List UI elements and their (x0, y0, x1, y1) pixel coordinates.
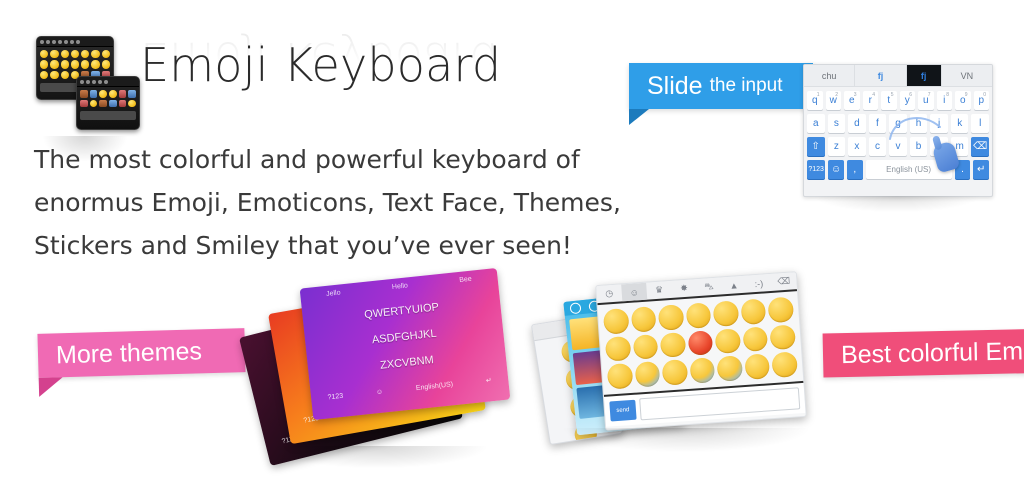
key-j[interactable]: j (930, 114, 948, 133)
key-y[interactable]: 6y (900, 91, 916, 110)
emoji-cell[interactable] (770, 324, 796, 350)
emoji-cell[interactable] (742, 326, 768, 352)
key-o[interactable]: 9o (955, 91, 971, 110)
screenshot-shadow (815, 196, 979, 212)
emoji-cell[interactable] (740, 298, 766, 324)
emoji-cell[interactable] (630, 306, 656, 332)
promo-banner: Emoji Keyboard Emoji Keyboard The most c… (0, 0, 1024, 500)
key-i[interactable]: 8i (937, 91, 953, 110)
theme-suggestion: Hello (392, 282, 409, 291)
emoji-cell[interactable] (717, 355, 743, 381)
key-t[interactable]: 5t (881, 91, 897, 110)
keyboard-row-4: ?123 ☺ , English (US) . ↵ (807, 160, 989, 179)
key-x[interactable]: x (848, 137, 866, 156)
ribbon-fold-icon (39, 377, 64, 397)
key-enter[interactable]: ↵ (973, 160, 989, 179)
key-v[interactable]: v (889, 137, 907, 156)
suggestion-bar: chu fj fj VN (804, 65, 992, 87)
key-f[interactable]: f (869, 114, 887, 133)
emoji-cell[interactable] (658, 304, 684, 330)
toolbar-dot-icon (64, 40, 68, 44)
clock-icon (569, 302, 581, 314)
description-line-2: enormus Emoji, Emoticons, Text Face, The… (34, 181, 634, 224)
emoji-cell[interactable] (772, 352, 798, 378)
category-car-icon[interactable]: ⛍ (696, 277, 722, 296)
suggestion-item-selected[interactable]: fj (907, 65, 942, 86)
key-r[interactable]: 4r (863, 91, 879, 110)
description-line-3: Stickers and Smiley that you’ve ever see… (34, 224, 634, 267)
ribbon-slide-rest: the input (710, 75, 783, 97)
emoji-cell[interactable] (660, 332, 686, 358)
emoji-cell[interactable] (662, 359, 688, 385)
suggestion-item[interactable]: VN (942, 65, 992, 86)
slide-input-screenshot: chu fj fj VN 1q 2w 3e 4r 5t 6y 7u 8i 9o … (803, 64, 993, 197)
theme-stack-shadow (270, 446, 486, 468)
key-comma[interactable]: , (847, 160, 863, 179)
emoji-cell[interactable] (744, 353, 770, 379)
key-s[interactable]: s (828, 114, 846, 133)
emoji-cell[interactable] (634, 361, 660, 387)
key-backspace[interactable]: ⌫ (971, 137, 989, 156)
emoji-cell[interactable] (607, 363, 633, 389)
keyboard-rows: 1q 2w 3e 4r 5t 6y 7u 8i 9o 0p a s d f g … (804, 87, 992, 187)
key-shift[interactable]: ⇧ (807, 137, 825, 156)
key-e[interactable]: 3e (844, 91, 860, 110)
ribbon-slide-the-input: Slide the input (629, 63, 813, 109)
toolbar-dot-icon (46, 40, 50, 44)
key-k[interactable]: k (951, 114, 969, 133)
keyboard-row-3: ⇧ z x c v b n m ⌫ (807, 137, 989, 156)
theme-suggestion: Bee (459, 276, 472, 284)
toolbar-dot-icon (52, 40, 56, 44)
toolbar-dot-icon (58, 40, 62, 44)
emoji-cell[interactable] (689, 357, 715, 383)
keyboard-row-2: a s d f g h j k l (807, 114, 989, 133)
app-icon-spacebar (80, 111, 136, 120)
theme-card-purple[interactable]: Jello Hello Bee QWERTYUIOP ASDFGHJKL ZXC… (300, 268, 511, 420)
emoji-panel-front[interactable]: ◷ ☺ ♛ ✸ ⛍ ▲ :-) ⌫ (595, 271, 807, 431)
key-emoji-smiley[interactable]: ☺ (828, 160, 844, 179)
theme-stack: Jello QWERTYUIOP ASDFGHJKL ZXCVBNM ?123☺… (252, 278, 500, 470)
ribbon-band: More themes (37, 328, 245, 378)
suggestion-item[interactable]: fj (855, 65, 906, 86)
emoji-cell[interactable] (632, 334, 658, 360)
category-snowflake-icon[interactable]: ✸ (671, 279, 697, 298)
emoji-grid (598, 291, 804, 394)
emoji-cell[interactable] (713, 300, 739, 326)
ribbon-slide-strong: Slide (647, 72, 703, 101)
description-line-1: The most colorful and powerful keyboard … (34, 138, 634, 181)
emoji-panel-stack: ◷ ☺ ♛ ✸ ⛍ ▲ :-) ⌫ (540, 278, 824, 470)
emoji-cell[interactable] (715, 328, 741, 354)
ribbon-more-themes: More themes (37, 328, 245, 378)
ribbon-best-colorful-emoji: Best colorful Emoji (823, 329, 1024, 378)
key-w[interactable]: 2w (826, 91, 842, 110)
category-clock-icon[interactable]: ◷ (596, 284, 622, 303)
theme-suggestion: Jello (326, 289, 341, 297)
app-icon-keyboard-front (76, 76, 140, 130)
key-d[interactable]: d (848, 114, 866, 133)
key-g[interactable]: g (889, 114, 907, 133)
key-z[interactable]: z (828, 137, 846, 156)
app-icon-emoji-grid (77, 87, 139, 110)
emoji-cell[interactable] (687, 330, 713, 356)
key-symbols[interactable]: ?123 (807, 160, 825, 179)
emoji-cell[interactable] (685, 302, 711, 328)
key-a[interactable]: a (807, 114, 825, 133)
toolbar-dot-icon (40, 40, 44, 44)
text-input[interactable] (639, 387, 800, 420)
app-icon-toolbar (37, 37, 113, 47)
category-backspace-icon[interactable]: ⌫ (771, 272, 797, 291)
category-textface-icon[interactable]: :-) (746, 274, 772, 293)
keyboard-row-1: 1q 2w 3e 4r 5t 6y 7u 8i 9o 0p (807, 91, 989, 110)
toolbar-dot-icon (104, 80, 108, 84)
category-mountain-icon[interactable]: ▲ (721, 276, 747, 295)
toolbar-dot-icon (80, 80, 84, 84)
key-l[interactable]: l (971, 114, 989, 133)
page-title: Emoji Keyboard (140, 38, 501, 92)
key-b[interactable]: b (910, 137, 928, 156)
suggestion-item[interactable]: chu (804, 65, 855, 86)
emoji-cell[interactable] (603, 308, 629, 334)
key-c[interactable]: c (869, 137, 887, 156)
send-button[interactable]: send (609, 399, 636, 421)
app-icon (32, 32, 136, 136)
emoji-cell[interactable] (768, 296, 794, 322)
description-text: The most colorful and powerful keyboard … (34, 138, 634, 267)
ribbon-band: Slide the input (629, 63, 813, 109)
ribbon-themes-label: More themes (56, 337, 203, 370)
ribbon-fold-icon (629, 109, 649, 125)
emoji-cell[interactable] (605, 336, 631, 362)
key-p[interactable]: 0p (974, 91, 990, 110)
key-h[interactable]: h (910, 114, 928, 133)
ribbon-emoji-label: Best colorful Emoji (841, 336, 1024, 369)
category-crown-icon[interactable]: ♛ (646, 281, 672, 300)
category-smiley-icon[interactable]: ☺ (621, 283, 647, 302)
toolbar-dot-icon (70, 40, 74, 44)
toolbar-dot-icon (86, 80, 90, 84)
emoji-stack-shadow (564, 428, 808, 452)
toolbar-dot-icon (98, 80, 102, 84)
app-icon-toolbar (77, 77, 139, 87)
toolbar-dot-icon (76, 40, 80, 44)
key-q[interactable]: 1q (807, 91, 823, 110)
ribbon-band: Best colorful Emoji (823, 329, 1024, 378)
key-u[interactable]: 7u (918, 91, 934, 110)
toolbar-dot-icon (92, 80, 96, 84)
